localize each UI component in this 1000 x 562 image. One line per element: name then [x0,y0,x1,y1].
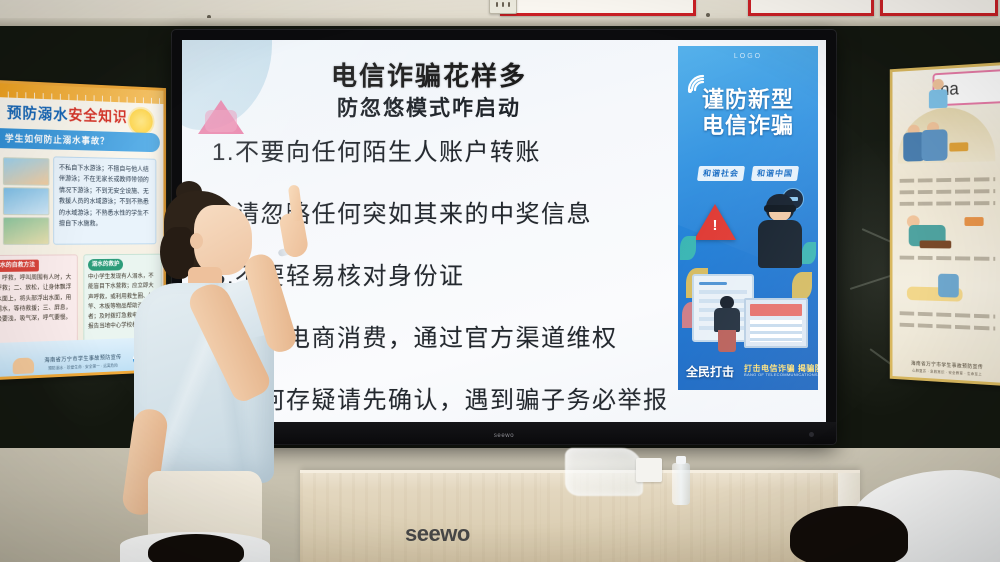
poster-headline-2: 电信诈骗 [678,108,818,140]
slide-bullet: 1.不要向任何陌生人账户转账 [212,132,672,167]
poster-photo-thumb [3,187,50,215]
poster-right-caption-rule [900,323,996,331]
poster-right-caption-rule [900,177,996,183]
wall-certificate [500,0,696,16]
wall-nail [706,13,710,17]
student-foreground-left [120,508,270,562]
poster-logo-placeholder: LOGO [678,53,818,60]
poster-tag: 和谐中国 [751,166,799,181]
poster-right-footer: 海南省万宁市学生事故预防宣传 心肺复苏 · 急救常识 · 安全教育 · 生命至上 [892,359,1000,379]
poster-right-person-icon [929,78,948,108]
classroom-screenshot: 预防溺水安全知识 学生如何防止溺水事故？ 不私自下水游泳；不擅自与他人结伴游泳；… [0,0,1000,562]
poster-slogan-tags: 和谐社会 和谐中国 [678,166,818,181]
poster-left-title-blue: 预防溺水 [7,104,69,123]
poster-photo-thumb [3,217,50,245]
laptop-illustration [744,298,808,348]
poster-right-badge [949,142,968,151]
poster-left-title: 预防溺水安全知识 [7,101,128,126]
student-hair [148,534,244,562]
leaf-decoration [802,242,816,264]
poster-left-title-red: 安全知识 [68,107,127,126]
selfrescue-chip: 溺水的自救方法 [0,260,39,273]
ir-receiver-icon [809,432,814,437]
plastic-bag [565,448,643,496]
cpr-illustration-3 [907,275,968,306]
thief-illustration [714,296,740,352]
poster-footer-en: BANG OF TELECOMMUNICATIONS FRAUD [744,373,818,378]
poster-right-caption-rule [900,311,996,318]
poster-right-caption-rule [900,189,996,194]
water-bottle [672,463,690,505]
wall-socket[interactable] [489,0,517,14]
student-hair [790,506,908,562]
cpr-illustration-2 [909,215,961,248]
sun-icon [129,108,152,134]
poster-right-caption-rule [900,201,996,206]
anti-fraud-poster-graphic: LOGO 谨防新型 电信诈骗 和谐社会 和谐中国 [678,46,818,390]
hacker-illustration [758,194,802,284]
poster-right-caption-rule [900,256,996,261]
poster-footer-brand: 全民打击 [686,363,734,380]
selfrescue-body: 一、呼救，呼叫周围有人时，大声呼救；二、放松，让身体飘浮在水面上，将头部浮出水面… [0,273,73,325]
poster-right-badge [964,217,983,226]
white-box-item [636,458,662,482]
ear [190,233,203,249]
poster-tag: 和谐社会 [697,166,745,181]
poster-left-selfrescue-panel: 溺水的自救方法 一、呼救，呼叫周围有人时，大声呼救；二、放松，让身体飘浮在水面上… [0,254,78,351]
teacher-presenter [120,175,350,562]
student-foreground-right [790,470,1000,562]
wall-certificate [880,0,998,16]
leaf-decoration [680,236,696,260]
blackboard-frame [0,18,1000,26]
panel-brand-logo: seewo [494,433,514,439]
poster-footer-text: 打击电信诈骗 揭骗防范助力 BANG OF TELECOMMUNICATIONS… [744,364,818,378]
podium-brand-logo: seewo [405,521,470,547]
poster-footer: 全民打击 打击电信诈骗 揭骗防范助力 BANG OF TELECOMMUNICA… [678,356,818,386]
cpr-illustration-1 [903,123,951,163]
poster-ruler-strip [0,83,163,104]
wall-certificate [748,0,874,16]
poster-photo-thumb [3,157,50,186]
warning-triangle-icon [694,204,736,240]
rescue-chip: 溺水的救护 [88,259,123,271]
first-aid-poster: ha 海南省万宁市学生事故预防宣传 心肺复苏 · 急救常识 · 安全教育 · 生… [890,62,1000,386]
